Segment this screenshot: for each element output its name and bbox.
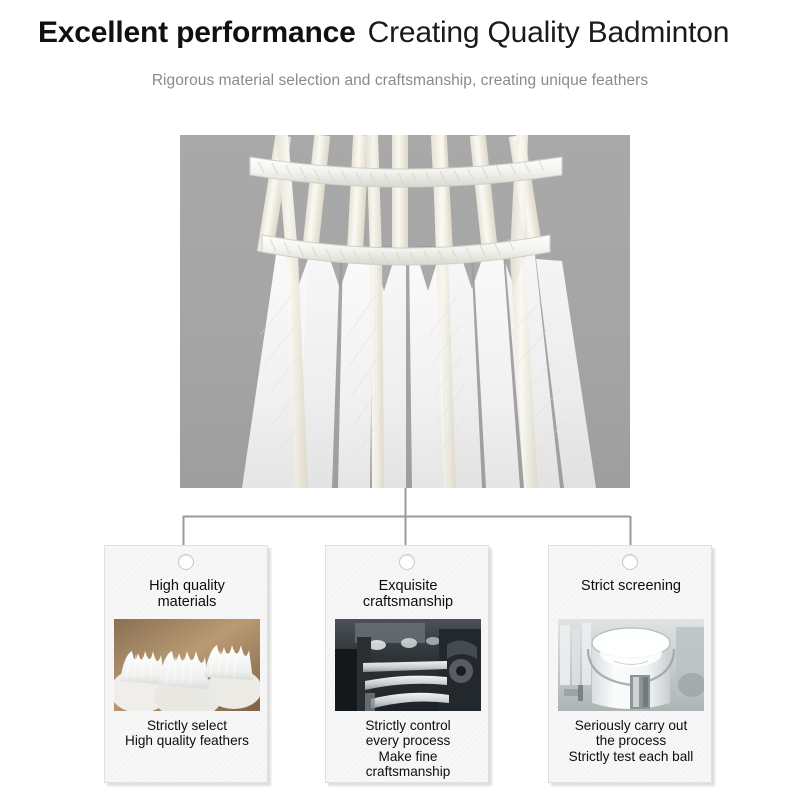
- hole-punch-icon: [399, 554, 415, 570]
- card-caption-line: Make fine: [328, 749, 488, 764]
- page-header: Excellent performanceCreating Quality Ba…: [0, 0, 800, 120]
- shuttlecock-illustration: [180, 135, 630, 488]
- testing-apparatus-illustration: [558, 619, 704, 711]
- feature-cards-row: High quality materials: [0, 545, 800, 790]
- feather-bundles-illustration: [114, 619, 260, 711]
- page-title: Excellent performanceCreating Quality Ba…: [38, 18, 778, 48]
- feature-card-thumbnail: [558, 619, 704, 711]
- hero-shuttlecock-image: [180, 135, 630, 488]
- card-caption-line: Strictly test each ball: [551, 749, 711, 764]
- feature-card-caption: Seriously carry out the process Strictly…: [551, 718, 711, 764]
- feature-card-title: Exquisite craftsmanship: [332, 578, 484, 610]
- feature-card-strict-screening[interactable]: Strict screening: [548, 545, 712, 783]
- feature-card-title: High quality materials: [111, 578, 263, 610]
- card-title-line: Exquisite: [332, 578, 484, 594]
- feature-card-exquisite-craftsmanship[interactable]: Exquisite craftsmanship: [325, 545, 489, 783]
- card-caption-line: High quality feathers: [107, 733, 267, 748]
- card-title-line: craftsmanship: [332, 594, 484, 610]
- card-title-line: High quality: [111, 578, 263, 594]
- card-caption-line: every process: [328, 733, 488, 748]
- product-feature-page: Excellent performanceCreating Quality Ba…: [0, 0, 800, 800]
- card-caption-line: Seriously carry out: [551, 718, 711, 733]
- card-caption-line: Strictly select: [107, 718, 267, 733]
- hole-punch-icon: [178, 554, 194, 570]
- machinery-illustration: [335, 619, 481, 711]
- hero-image-inner: [180, 135, 630, 488]
- feature-card-high-quality-materials[interactable]: High quality materials: [104, 545, 268, 783]
- page-title-emphasis: Excellent performance: [38, 16, 356, 49]
- page-title-secondary: Creating Quality Badminton: [368, 16, 730, 49]
- card-caption-line: the process: [551, 733, 711, 748]
- card-caption-line: craftsmanship: [328, 764, 488, 779]
- page-subtitle: Rigorous material selection and craftsma…: [0, 72, 800, 90]
- feature-card-caption: Strictly select High quality feathers: [107, 718, 267, 749]
- feature-card-thumbnail: [114, 619, 260, 711]
- feature-card-thumbnail: [335, 619, 481, 711]
- card-title-line: materials: [111, 594, 263, 610]
- feature-card-caption: Strictly control every process Make fine…: [328, 718, 488, 780]
- hole-punch-icon: [622, 554, 638, 570]
- card-title-line: Strict screening: [555, 578, 707, 594]
- card-caption-line: Strictly control: [328, 718, 488, 733]
- feature-card-title: Strict screening: [555, 578, 707, 594]
